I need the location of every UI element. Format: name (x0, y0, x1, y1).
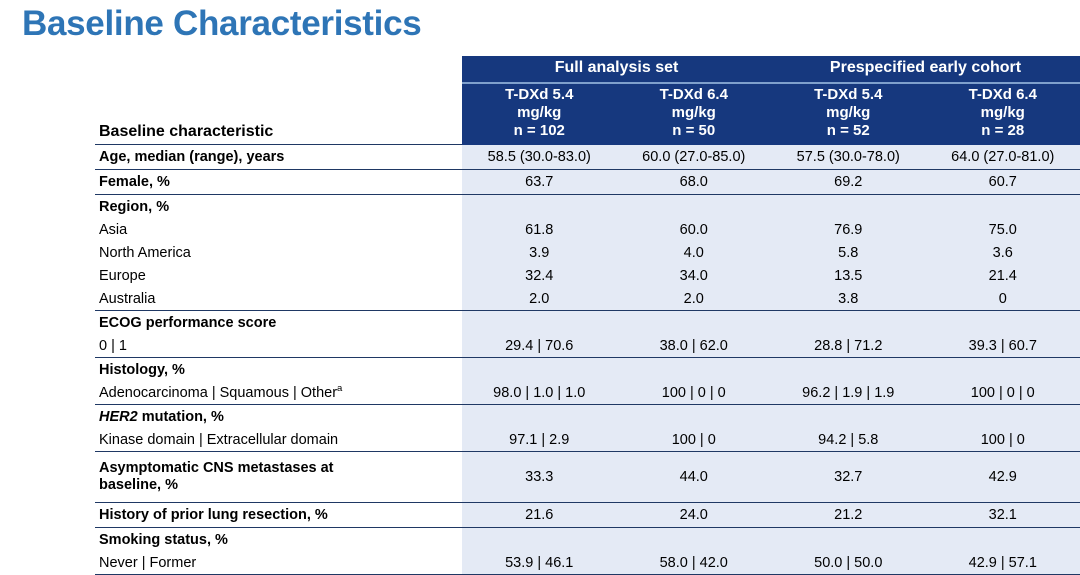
row-label-ecog-0-1: 0 | 1 (95, 334, 462, 358)
cell-lung-resection-fas-6-4: 24.0 (617, 503, 772, 528)
cell-ecog-0-1-fas-5-4: 29.4 | 70.6 (462, 334, 617, 358)
column-header-drug: T-DXd 5.4 (462, 86, 617, 104)
baseline-characteristics-table: Full analysis set Prespecified early coh… (95, 56, 1080, 575)
column-header-dose: mg/kg (617, 104, 772, 122)
column-header-n: n = 28 (926, 122, 1080, 140)
cell-cns-early-5-4: 32.7 (771, 452, 926, 503)
cell-europe-fas-6-4: 34.0 (617, 264, 772, 287)
table-body: Age, median (range), years 58.5 (30.0-83… (95, 145, 1080, 575)
column-header-n: n = 52 (771, 122, 926, 140)
column-header-n: n = 50 (617, 122, 772, 140)
cell-asia-early-6-4: 75.0 (926, 218, 1080, 241)
cell-histology-fas-6-4 (617, 358, 772, 382)
table-row: Age, median (range), years 58.5 (30.0-83… (95, 145, 1080, 170)
table-row: Asia 61.8 60.0 76.9 75.0 (95, 218, 1080, 241)
cell-smoking-never-former-early-5-4: 50.0 | 50.0 (771, 551, 926, 575)
group-header-row: Full analysis set Prespecified early coh… (95, 56, 1080, 83)
cell-region-fas-5-4 (462, 195, 617, 219)
cell-ecog-fas-6-4 (617, 311, 772, 335)
cell-cns-early-6-4: 42.9 (926, 452, 1080, 503)
cell-ecog-fas-5-4 (462, 311, 617, 335)
cell-australia-early-5-4: 3.8 (771, 287, 926, 311)
table-row: Europe 32.4 34.0 13.5 21.4 (95, 264, 1080, 287)
row-label-female: Female, % (95, 170, 462, 195)
row-label-smoking-status: Smoking status, % (95, 528, 462, 552)
cns-label-line2: baseline, % (99, 477, 462, 495)
cell-histology-early-5-4 (771, 358, 926, 382)
cell-region-fas-6-4 (617, 195, 772, 219)
cell-ecog-0-1-fas-6-4: 38.0 | 62.0 (617, 334, 772, 358)
cell-age-early-6-4: 64.0 (27.0-81.0) (926, 145, 1080, 170)
cell-her2-domains-early-6-4: 100 | 0 (926, 428, 1080, 452)
row-label-histology: Histology, % (95, 358, 462, 382)
cell-her2-domains-early-5-4: 94.2 | 5.8 (771, 428, 926, 452)
cell-her2-fas-5-4 (462, 405, 617, 429)
slide-root: Baseline Characteristics Full analysis s… (0, 0, 1080, 558)
page-title: Baseline Characteristics (22, 4, 421, 44)
table-head: Full analysis set Prespecified early coh… (95, 56, 1080, 145)
table-row: Adenocarcinoma | Squamous | Othera 98.0 … (95, 381, 1080, 405)
cell-smoking-fas-6-4 (617, 528, 772, 552)
cell-age-fas-6-4: 60.0 (27.0-85.0) (617, 145, 772, 170)
row-label-region-europe: Europe (95, 264, 462, 287)
cell-her2-fas-6-4 (617, 405, 772, 429)
table-row: History of prior lung resection, % 21.6 … (95, 503, 1080, 528)
row-label-her2-mutation: HER2 mutation, % (95, 405, 462, 429)
cell-europe-early-5-4: 13.5 (771, 264, 926, 287)
table: Full analysis set Prespecified early coh… (95, 56, 1080, 575)
table-row: Asymptomatic CNS metastases at baseline,… (95, 452, 1080, 503)
column-header-early-tdxd-5-4: T-DXd 5.4 mg/kg n = 52 (771, 83, 926, 145)
table-row: Female, % 63.7 68.0 69.2 60.7 (95, 170, 1080, 195)
cell-histology-types-fas-6-4: 100 | 0 | 0 (617, 381, 772, 405)
row-label-age: Age, median (range), years (95, 145, 462, 170)
row-label-cns-metastases: Asymptomatic CNS metastases at baseline,… (95, 452, 462, 503)
row-label-region-asia: Asia (95, 218, 462, 241)
cell-north-america-fas-5-4: 3.9 (462, 241, 617, 264)
cell-her2-early-6-4 (926, 405, 1080, 429)
column-header-drug: T-DXd 6.4 (617, 86, 772, 104)
cns-label-line1: Asymptomatic CNS metastases at (99, 460, 462, 478)
cell-smoking-fas-5-4 (462, 528, 617, 552)
column-header-dose: mg/kg (771, 104, 926, 122)
her2-label-rest: mutation, % (138, 409, 224, 425)
cell-asia-early-5-4: 76.9 (771, 218, 926, 241)
cell-region-early-6-4 (926, 195, 1080, 219)
cell-asia-fas-6-4: 60.0 (617, 218, 772, 241)
cell-female-early-5-4: 69.2 (771, 170, 926, 195)
cell-histology-fas-5-4 (462, 358, 617, 382)
column-header-dose: mg/kg (926, 104, 1080, 122)
group-header-full-analysis-set: Full analysis set (462, 56, 771, 83)
cell-smoking-never-former-fas-6-4: 58.0 | 42.0 (617, 551, 772, 575)
histology-types-text: Adenocarcinoma | Squamous | Other (99, 385, 337, 401)
cell-ecog-early-6-4 (926, 311, 1080, 335)
column-header-fas-tdxd-5-4: T-DXd 5.4 mg/kg n = 102 (462, 83, 617, 145)
cell-her2-domains-fas-6-4: 100 | 0 (617, 428, 772, 452)
cell-histology-early-6-4 (926, 358, 1080, 382)
cell-north-america-fas-6-4: 4.0 (617, 241, 772, 264)
cell-lung-resection-fas-5-4: 21.6 (462, 503, 617, 528)
cell-female-fas-6-4: 68.0 (617, 170, 772, 195)
cell-smoking-never-former-early-6-4: 42.9 | 57.1 (926, 551, 1080, 575)
cell-ecog-0-1-early-6-4: 39.3 | 60.7 (926, 334, 1080, 358)
cell-ecog-early-5-4 (771, 311, 926, 335)
her2-gene-name: HER2 (99, 409, 138, 425)
table-row: Kinase domain | Extracellular domain 97.… (95, 428, 1080, 452)
cell-lung-resection-early-5-4: 21.2 (771, 503, 926, 528)
cell-lung-resection-early-6-4: 32.1 (926, 503, 1080, 528)
table-row: Australia 2.0 2.0 3.8 0 (95, 287, 1080, 311)
row-label-lung-resection: History of prior lung resection, % (95, 503, 462, 528)
cell-europe-fas-5-4: 32.4 (462, 264, 617, 287)
cell-ecog-0-1-early-5-4: 28.8 | 71.2 (771, 334, 926, 358)
cell-cns-fas-6-4: 44.0 (617, 452, 772, 503)
row-label-region: Region, % (95, 195, 462, 219)
table-row: 0 | 1 29.4 | 70.6 38.0 | 62.0 28.8 | 71.… (95, 334, 1080, 358)
row-label-region-australia: Australia (95, 287, 462, 311)
column-header-dose: mg/kg (462, 104, 617, 122)
table-row: Histology, % (95, 358, 1080, 382)
cell-female-early-6-4: 60.7 (926, 170, 1080, 195)
table-row: Smoking status, % (95, 528, 1080, 552)
footnote-marker-a: a (337, 383, 342, 394)
column-header-fas-tdxd-6-4: T-DXd 6.4 mg/kg n = 50 (617, 83, 772, 145)
cell-histology-types-fas-5-4: 98.0 | 1.0 | 1.0 (462, 381, 617, 405)
cell-smoking-early-5-4 (771, 528, 926, 552)
cell-smoking-early-6-4 (926, 528, 1080, 552)
cell-europe-early-6-4: 21.4 (926, 264, 1080, 287)
table-row: North America 3.9 4.0 5.8 3.6 (95, 241, 1080, 264)
column-header-drug: T-DXd 5.4 (771, 86, 926, 104)
cell-her2-early-5-4 (771, 405, 926, 429)
cell-histology-types-early-6-4: 100 | 0 | 0 (926, 381, 1080, 405)
row-label-her2-domains: Kinase domain | Extracellular domain (95, 428, 462, 452)
column-header-early-tdxd-6-4: T-DXd 6.4 mg/kg n = 28 (926, 83, 1080, 145)
cell-north-america-early-5-4: 5.8 (771, 241, 926, 264)
cell-histology-types-early-5-4: 96.2 | 1.9 | 1.9 (771, 381, 926, 405)
group-header-prespecified-early-cohort: Prespecified early cohort (771, 56, 1080, 83)
cell-female-fas-5-4: 63.7 (462, 170, 617, 195)
table-row: Region, % (95, 195, 1080, 219)
column-header-drug: T-DXd 6.4 (926, 86, 1080, 104)
row-label-region-north-america: North America (95, 241, 462, 264)
cell-age-early-5-4: 57.5 (30.0-78.0) (771, 145, 926, 170)
row-label-ecog: ECOG performance score (95, 311, 462, 335)
group-header-spacer (95, 56, 462, 83)
cell-asia-fas-5-4: 61.8 (462, 218, 617, 241)
cell-region-early-5-4 (771, 195, 926, 219)
cell-australia-fas-5-4: 2.0 (462, 287, 617, 311)
column-header-row: Baseline characteristic T-DXd 5.4 mg/kg … (95, 83, 1080, 145)
row-label-smoking-never-former: Never | Former (95, 551, 462, 575)
table-row: Never | Former 53.9 | 46.1 58.0 | 42.0 5… (95, 551, 1080, 575)
row-label-histology-types: Adenocarcinoma | Squamous | Othera (95, 381, 462, 405)
column-header-n: n = 102 (462, 122, 617, 140)
table-row: ECOG performance score (95, 311, 1080, 335)
cell-her2-domains-fas-5-4: 97.1 | 2.9 (462, 428, 617, 452)
cell-north-america-early-6-4: 3.6 (926, 241, 1080, 264)
cell-smoking-never-former-fas-5-4: 53.9 | 46.1 (462, 551, 617, 575)
cell-cns-fas-5-4: 33.3 (462, 452, 617, 503)
cell-australia-fas-6-4: 2.0 (617, 287, 772, 311)
table-row: HER2 mutation, % (95, 405, 1080, 429)
column-header-baseline-characteristic: Baseline characteristic (95, 83, 462, 145)
cell-australia-early-6-4: 0 (926, 287, 1080, 311)
cell-age-fas-5-4: 58.5 (30.0-83.0) (462, 145, 617, 170)
